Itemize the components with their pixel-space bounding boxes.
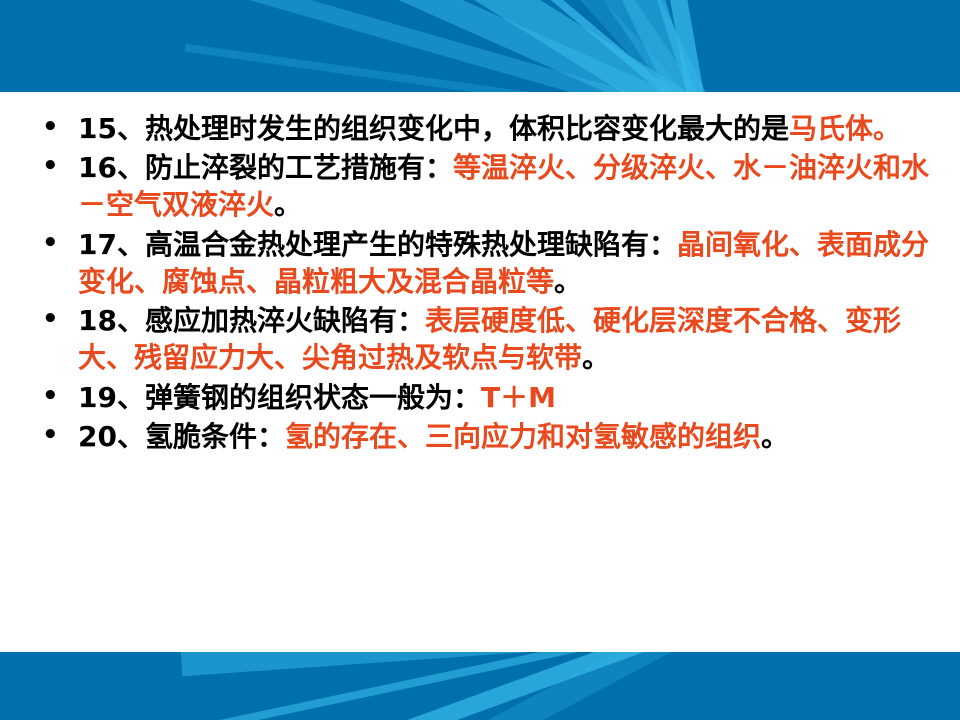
question-text: 20、氢脆条件： xyxy=(78,420,285,453)
slide-content: 15、热处理时发生的组织变化中，体积比容变化最大的是马氏体。16、防止淬裂的工艺… xyxy=(0,92,960,652)
answer-text: 。 xyxy=(873,112,901,145)
answer-text: 马氏体 xyxy=(789,112,873,145)
top-band-rays xyxy=(0,0,960,92)
question-text: 16、防止淬裂的工艺措施有： xyxy=(78,151,453,184)
bullet-item: 20、氢脆条件：氢的存在、三向应力和对氢敏感的组织。 xyxy=(34,418,932,455)
bullet-item: 17、高温合金热处理产生的特殊热处理缺陷有：晶间氧化、表面成分变化、腐蚀点、晶粒… xyxy=(34,226,932,300)
question-text: 。 xyxy=(582,341,610,374)
answer-text: T＋M xyxy=(481,381,556,414)
decorative-top-band xyxy=(0,0,960,92)
question-text: 15、热处理时发生的组织变化中，体积比容变化最大的是 xyxy=(78,112,789,145)
question-text: 。 xyxy=(554,265,582,298)
answer-text: 氢的存在、三向应力和对氢敏感的组织 xyxy=(285,420,761,453)
bullet-item: 16、防止淬裂的工艺措施有：等温淬火、分级淬火、水－油淬火和水－空气双液淬火。 xyxy=(34,149,932,223)
question-text: 。 xyxy=(761,420,789,453)
question-text: 。 xyxy=(274,188,302,221)
bullet-item: 15、热处理时发生的组织变化中，体积比容变化最大的是马氏体。 xyxy=(34,110,932,147)
question-text: 17、高温合金热处理产生的特殊热处理缺陷有： xyxy=(78,228,677,261)
bullet-item: 18、感应加热淬火缺陷有：表层硬度低、硬化层深度不合格、变形大、残留应力大、尖角… xyxy=(34,302,932,376)
bullet-list: 15、热处理时发生的组织变化中，体积比容变化最大的是马氏体。16、防止淬裂的工艺… xyxy=(0,92,960,455)
decorative-bottom-band xyxy=(0,652,960,720)
slide: 15、热处理时发生的组织变化中，体积比容变化最大的是马氏体。16、防止淬裂的工艺… xyxy=(0,0,960,720)
question-text: 18、感应加热淬火缺陷有： xyxy=(78,304,425,337)
question-text: 19、弹簧钢的组织状态一般为： xyxy=(78,381,481,414)
bottom-band-rays xyxy=(0,652,960,720)
bullet-item: 19、弹簧钢的组织状态一般为：T＋M xyxy=(34,379,932,416)
